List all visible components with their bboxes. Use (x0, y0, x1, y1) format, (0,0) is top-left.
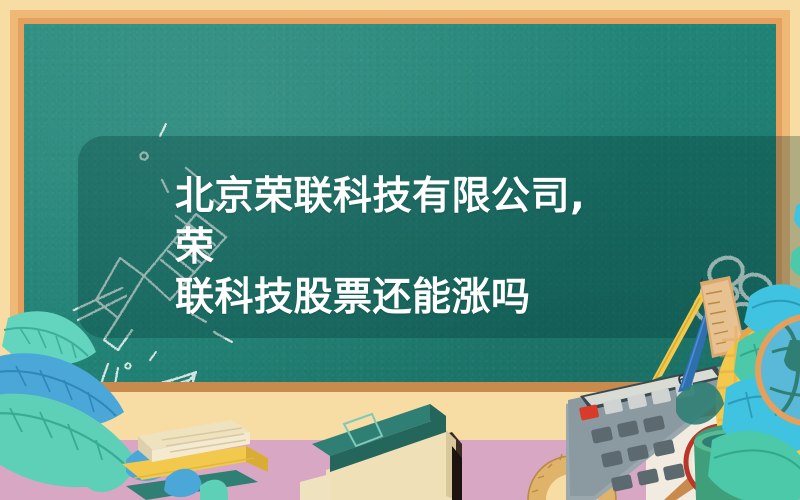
banner-canvas: 北京荣联科技有限公司,荣 联科技股票还能涨吗 (0, 0, 800, 500)
pencil (652, 276, 706, 380)
foreground-objects-layer: 64 (0, 0, 800, 500)
book-stack-center (300, 404, 462, 500)
